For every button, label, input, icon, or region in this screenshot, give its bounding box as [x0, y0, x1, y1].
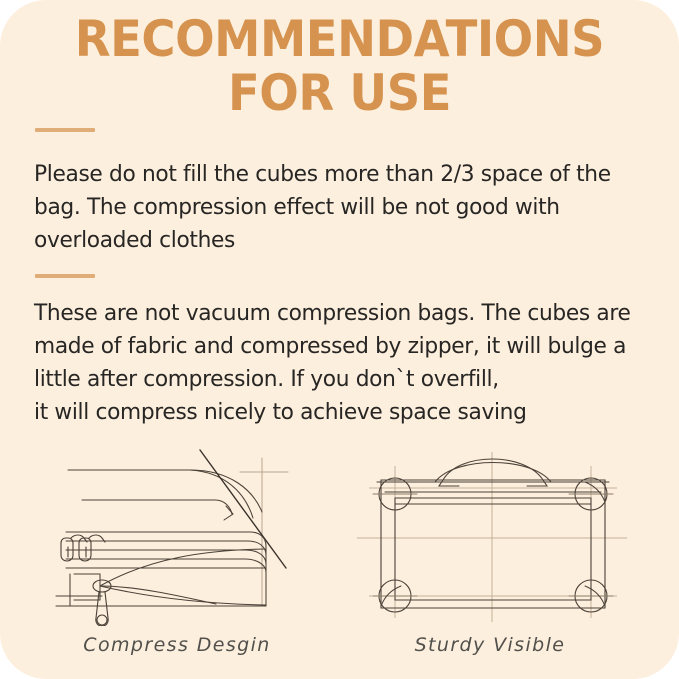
recommendation-paragraph-1: Please do not fill the cubes more than 2…	[34, 158, 644, 257]
compress-design-illustration	[40, 446, 340, 626]
page-title: RECOMMENDATIONS FOR USE	[0, 12, 679, 120]
caption-compress-design: Compress Desgin	[27, 634, 327, 656]
divider-middle	[35, 274, 95, 278]
recommendations-card: RECOMMENDATIONS FOR USE Please do not fi…	[0, 0, 679, 679]
divider-top	[35, 128, 95, 132]
recommendation-paragraph-2: These are not vacuum compression bags. T…	[34, 297, 644, 429]
illustration-row: Compress Desgin Sturdy Visible	[0, 446, 679, 679]
title-line-2: FOR USE	[24, 66, 655, 120]
sturdy-visible-illustration	[355, 446, 630, 626]
title-line-1: RECOMMENDATIONS	[24, 12, 655, 66]
caption-sturdy-visible: Sturdy Visible	[340, 634, 640, 656]
